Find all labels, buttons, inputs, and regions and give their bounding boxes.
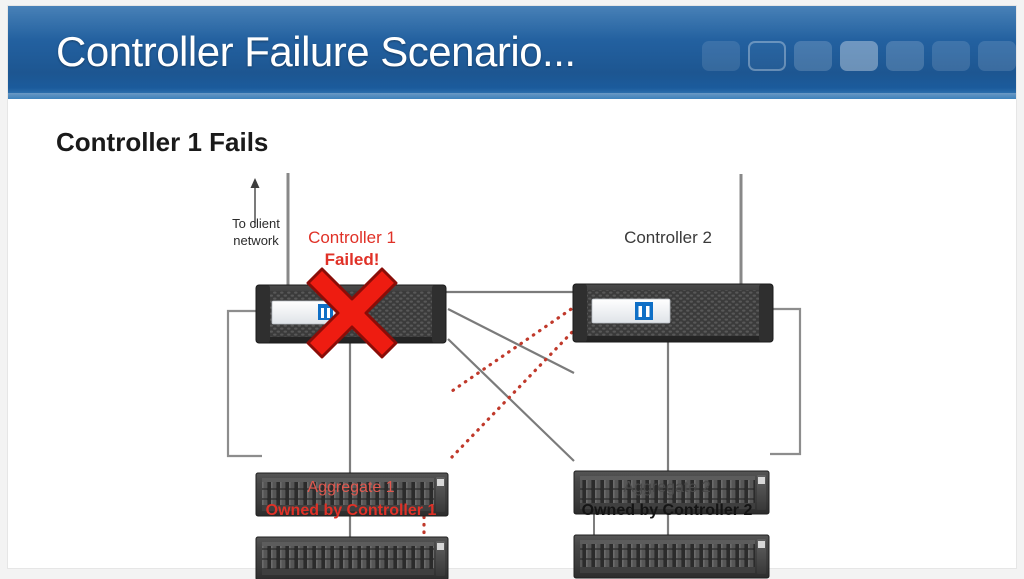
slide-root: Controller Failure Scenario... Controlle… <box>0 0 1024 579</box>
header-square-7 <box>978 41 1016 71</box>
controller2-chassis <box>573 284 773 342</box>
aggregate2-label: Aggregate 2 <box>572 479 762 497</box>
cable-c1-to-shelf2-bottom <box>448 339 574 461</box>
architecture-diagram: To client network Controller 1 Failed! C… <box>0 99 1024 579</box>
page-title: Controller Failure Scenario... <box>56 26 576 78</box>
to-client-arrow-head <box>251 178 260 188</box>
header-square-4 <box>840 41 878 71</box>
cable-c1-to-shelf2-top <box>448 309 574 373</box>
header-square-5 <box>886 41 924 71</box>
header-square-1 <box>702 41 740 71</box>
to-client-line1: To client <box>216 215 296 232</box>
slide-header: Controller Failure Scenario... <box>8 6 1016 99</box>
to-client-line2: network <box>216 232 296 249</box>
controller1-status-label: Failed! <box>286 250 418 270</box>
controller2-label: Controller 2 <box>602 228 734 248</box>
to-client-network-label: To client network <box>216 215 296 249</box>
aggregate1-label: Aggregate 1 <box>256 479 446 497</box>
header-decoration-squares <box>702 41 1016 71</box>
header-square-2 <box>748 41 786 71</box>
header-square-3 <box>794 41 832 71</box>
header-square-6 <box>932 41 970 71</box>
cable-c2-right-loop <box>770 309 800 454</box>
aggregate1-owner-label: Owned by Controller 1 <box>236 502 466 520</box>
controller1-label: Controller 1 <box>286 228 418 248</box>
aggregate2-owner-label: Owned by Controller 2 <box>552 502 782 520</box>
aggregate1-shelf-bottom <box>256 537 448 579</box>
aggregate2-shelf-bottom <box>574 535 769 578</box>
takeover-path-shelf1 <box>452 305 577 391</box>
netapp-logo-icon-2 <box>635 302 653 320</box>
